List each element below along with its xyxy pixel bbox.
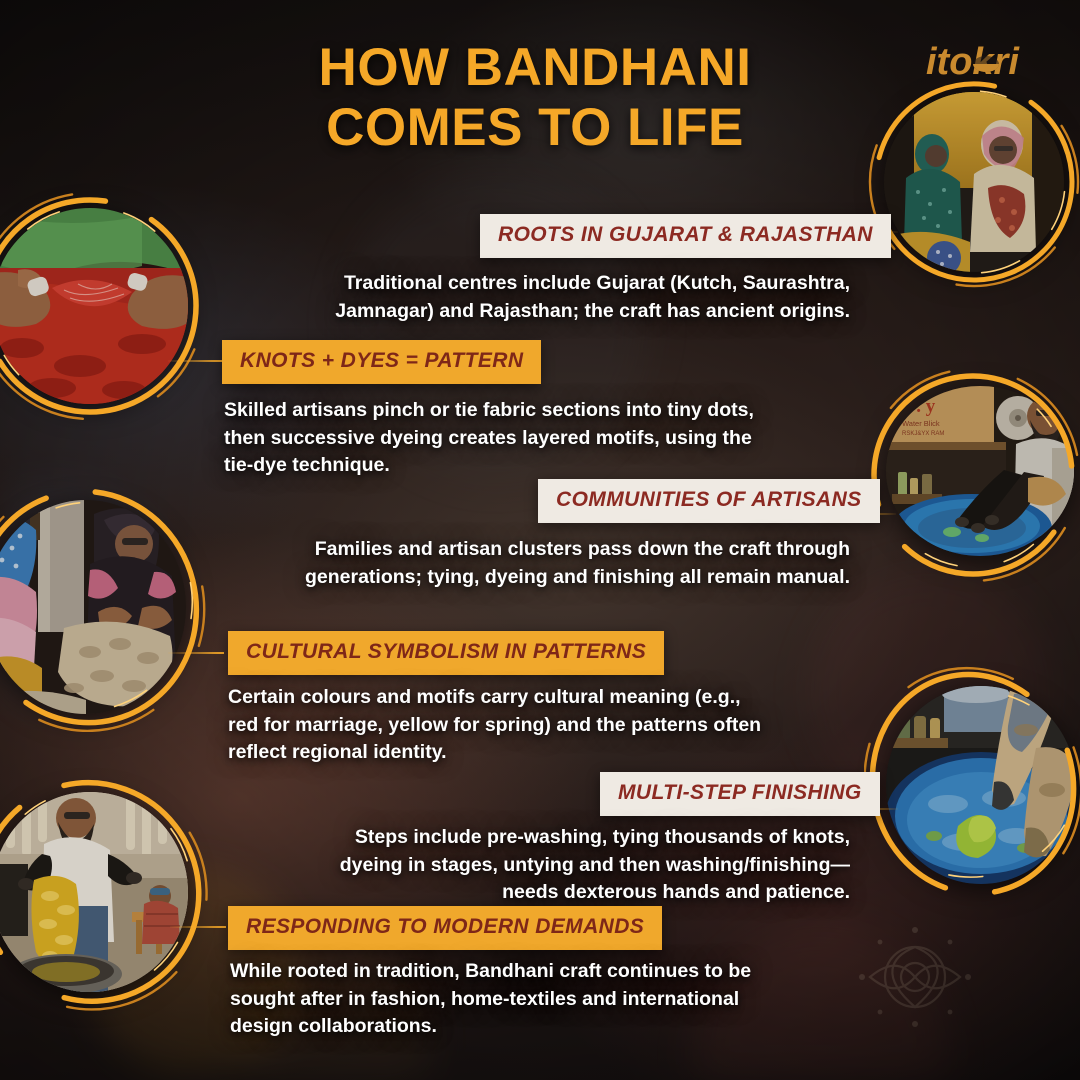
photo-indigo-vat xyxy=(886,686,1076,884)
section-label-finishing[interactable]: MULTI-STEP FINISHING xyxy=(600,772,880,816)
page-title-line-2: COMES TO LIFE xyxy=(140,98,930,158)
photo-hands-red-fabric xyxy=(0,208,188,404)
section-body-communities: Families and artisan clusters pass down … xyxy=(240,536,850,591)
section-body-knots: Skilled artisans pinch or tie fabric sec… xyxy=(224,397,764,480)
connector-line-modern xyxy=(170,926,226,928)
itokri-logo-text: itokri xyxy=(926,41,1020,83)
section-label-roots[interactable]: ROOTS IN GUJARAT & RAJASTHAN xyxy=(480,214,891,258)
section-label-communities[interactable]: COMMUNITIES OF ARTISANS xyxy=(538,479,880,523)
connector-line-knots xyxy=(168,360,224,362)
page-title-line-1: HOW BANDHANI xyxy=(140,38,930,98)
section-body-finishing: Steps include pre-washing, tying thousan… xyxy=(310,824,850,907)
connector-line-symbolism xyxy=(168,652,224,654)
photo-dyer-blue-tub: y . y Water Blick RSKJ&YX RAM xyxy=(886,386,1074,556)
infographic-poster: y . y Water Blick RSKJ&YX RAM xyxy=(0,0,1080,1080)
photo-yellow-dye-lift xyxy=(0,792,188,992)
section-body-modern: While rooted in tradition, Bandhani craf… xyxy=(230,958,790,1041)
section-label-knots[interactable]: KNOTS + DYES = PATTERN xyxy=(222,340,541,384)
itokri-logo[interactable]: itokri xyxy=(924,38,1044,84)
section-body-roots: Traditional centres include Gujarat (Kut… xyxy=(260,270,850,325)
section-body-symbolism: Certain colours and motifs carry cultura… xyxy=(228,684,768,767)
photo-women-cream-cloth xyxy=(0,500,186,714)
section-label-symbolism[interactable]: CULTURAL SYMBOLISM IN PATTERNS xyxy=(228,631,664,675)
section-label-modern[interactable]: RESPONDING TO MODERN DEMANDS xyxy=(228,906,662,950)
page-title: HOW BANDHANI COMES TO LIFE xyxy=(0,38,1080,158)
